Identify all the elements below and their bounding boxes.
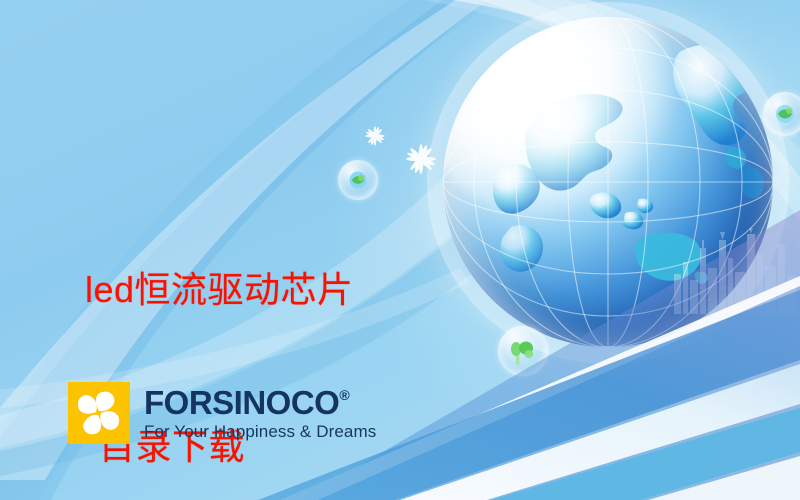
city-skyline-silhouette [670,228,800,314]
poster-canvas: led恒流驱动芯片 目录下载 FORSINOCO ® For Your Happ… [0,0,800,500]
four-petal-pinwheel-icon [68,382,130,444]
bubble-edge [763,92,800,136]
sparkle-asterisk-icon [364,125,386,147]
headline-line-1: led恒流驱动芯片 [85,264,354,316]
brand-name: FORSINOCO ® [144,386,376,419]
brand-name-text: FORSINOCO [144,386,339,419]
bubble-tree [498,326,548,376]
logo-wordmark: FORSINOCO ® For Your Happiness & Dreams [144,386,376,440]
registered-trademark-icon: ® [339,388,349,402]
company-logo: FORSINOCO ® For Your Happiness & Dreams [68,382,376,444]
brand-tagline: For Your Happiness & Dreams [144,423,376,440]
sparkle-asterisk-icon [404,142,438,176]
page-title: led恒流驱动芯片 目录下载 [85,160,354,500]
